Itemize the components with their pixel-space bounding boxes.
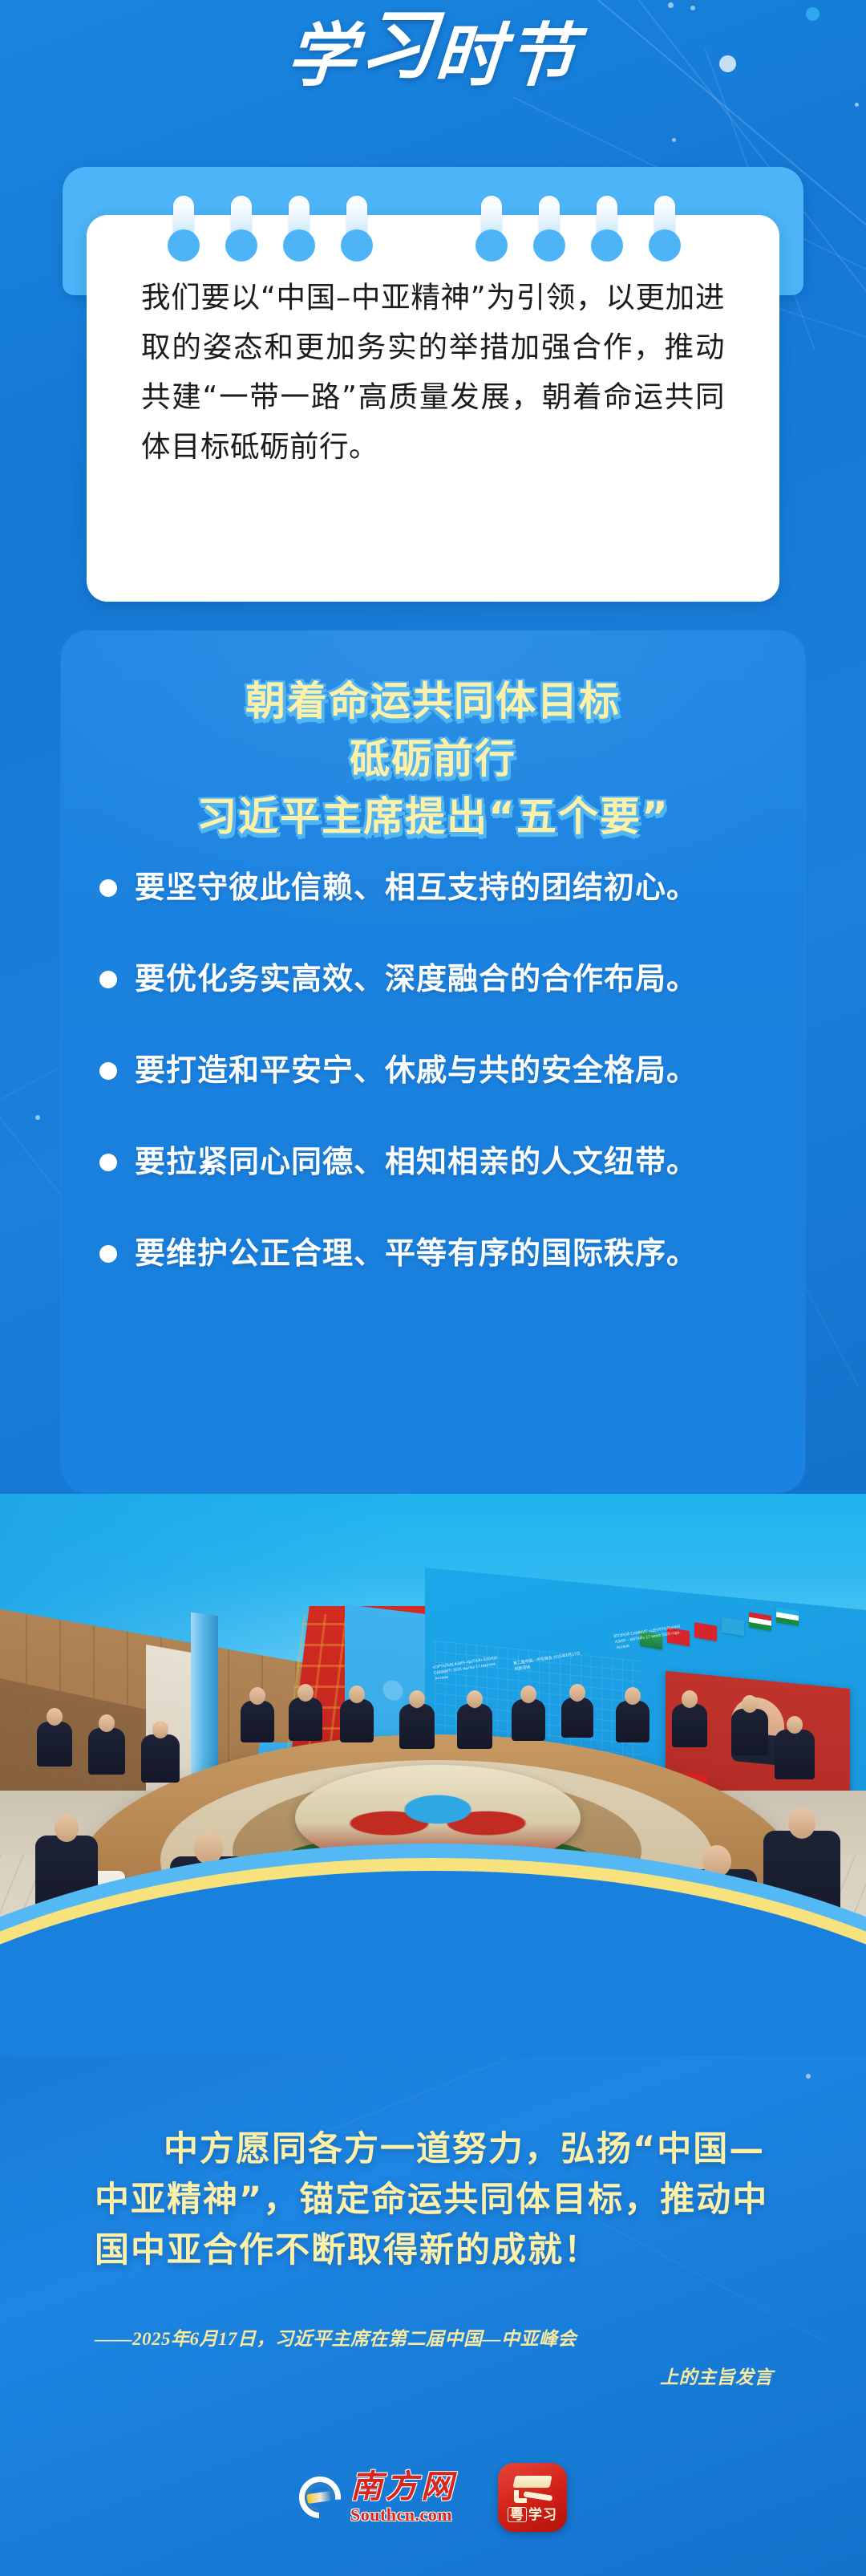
summit-photo: «ОРТАЛЫҚ АЗИЯ–ҚЫТАЙ» ЕКІНШІ САММИТІ 2025… <box>0 1494 866 2055</box>
headline-line-3: 习近平主席提出“五个要” <box>61 788 805 846</box>
attribution-line-1: ——2025年6月17日，习近平主席在第二届中国—中亚峰会 <box>95 2320 773 2359</box>
yue-char-rest: 学习 <box>528 2507 557 2522</box>
delegate-figure <box>512 1699 545 1741</box>
quote-text: 我们要以“中国–中亚精神”为引领，以更加进取的姿态和更加务实的举措加强合作，推动… <box>141 273 725 472</box>
delegate-figure <box>340 1699 374 1742</box>
yue-char-boxed: 粤 <box>508 2507 527 2522</box>
poster-root: 学习时节 我们要以“中国–中亚精神”为引领，以更加进取的姿态和更加务实的举措加强… <box>0 0 866 2576</box>
yuexuexi-app-icon[interactable]: 粤学习 <box>498 2463 567 2532</box>
brand-title: 学习时节 <box>285 14 582 94</box>
delegate-figure <box>141 1734 180 1783</box>
brand-title-part2: 时节 <box>431 18 581 95</box>
bullet-dot-icon <box>99 1062 117 1080</box>
delegate-head <box>788 1808 815 1839</box>
delegate-figure <box>561 1698 593 1738</box>
bullet-text: 要拉紧同心同德、相知相亲的人文纽带。 <box>135 1144 698 1181</box>
bullet-dot-icon <box>99 879 117 897</box>
content-panel: 朝着命运共同体目标 砥砺前行 习近平主席提出“五个要” 要坚守彼此信赖、相互支持… <box>61 631 805 1493</box>
delegate-head <box>702 1845 731 1877</box>
yue-glyph-icon <box>511 2473 554 2505</box>
delegate-head <box>569 1684 585 1702</box>
ring-icon <box>346 196 367 255</box>
delegate-figure <box>672 1704 707 1747</box>
delegate-head <box>625 1687 641 1705</box>
bottom-quote: 中方愿同各方一道努力，弘扬“中国—中亚精神”，锚定命运共同体目标，推动中国中亚合… <box>95 2124 773 2276</box>
delegate-head <box>152 1721 168 1738</box>
ring-icon <box>654 196 675 255</box>
southcn-mark-icon <box>299 2477 341 2518</box>
attribution: ——2025年6月17日，习近平主席在第二届中国—中亚峰会 上的主旨发言 <box>95 2320 773 2397</box>
ring-icon <box>481 196 502 255</box>
list-item: 要拉紧同心同德、相知相亲的人文纽带。 <box>61 1134 805 1191</box>
list-item: 要优化务实高效、深度融合的合作布局。 <box>61 951 805 1008</box>
photo-scene: «ОРТАЛЫҚ АЗИЯ–ҚЫТАЙ» ЕКІНШІ САММИТІ 2025… <box>0 1494 866 2055</box>
bullet-dot-icon <box>99 1245 117 1263</box>
southcn-name-en: Southcn.com <box>350 2505 452 2525</box>
logo-wheat-icon <box>306 2491 331 2504</box>
flower-arrangement <box>295 1765 581 1871</box>
southcn-name-cn: 南方网 <box>350 2470 456 2504</box>
delegate-head <box>194 1832 223 1864</box>
delegate-figure <box>37 1722 72 1767</box>
ring-icon <box>597 196 617 255</box>
delegate-head <box>787 1716 803 1734</box>
delegate-figure <box>35 1836 98 1919</box>
quote-card: 我们要以“中国–中亚精神”为引领，以更加进取的姿态和更加务实的举措加强合作，推动… <box>87 215 779 602</box>
bullet-text: 要优化务实高效、深度融合的合作布局。 <box>135 961 698 998</box>
yue-bar <box>512 2476 552 2488</box>
delegate-figure <box>88 1728 125 1775</box>
ring-icon <box>289 196 310 255</box>
brand-title-cursive-xi: 习 <box>357 2 439 90</box>
attribution-line-2: 上的主旨发言 <box>95 2359 773 2397</box>
delegate-figure <box>457 1704 492 1749</box>
delegate-head <box>55 1815 79 1842</box>
list-item: 要坚守彼此信赖、相互支持的团结初心。 <box>61 860 805 916</box>
bullet-dot-icon <box>99 1154 117 1171</box>
bullet-text: 要打造和平安宁、休戚与共的安全格局。 <box>135 1053 698 1089</box>
bullet-list: 要坚守彼此信赖、相互支持的团结初心。 要优化务实高效、深度融合的合作布局。 要打… <box>61 860 805 1317</box>
bullet-text: 要维护公正合理、平等有序的国际秩序。 <box>135 1235 698 1272</box>
delegate-head <box>742 1695 758 1713</box>
delegate-figure <box>775 1730 815 1779</box>
flag-tajikistan <box>749 1612 771 1631</box>
yuexuexi-label: 粤学习 <box>498 2503 567 2523</box>
yue-tail <box>524 2491 553 2501</box>
delegate-head <box>409 1690 425 1708</box>
ring-icon <box>173 196 194 255</box>
delegate-figure <box>616 1701 649 1742</box>
header: 学习时节 <box>0 0 866 160</box>
ring-icon <box>539 196 560 255</box>
delegate-figure <box>731 1709 768 1755</box>
ring-icon <box>231 196 252 255</box>
delegate-head <box>249 1687 265 1705</box>
headline-line-2: 砥砺前行 <box>61 730 805 788</box>
southcn-logo[interactable]: 南方网 Southcn.com <box>299 2470 456 2525</box>
delegate-head <box>99 1714 115 1732</box>
flag-china <box>694 1622 717 1641</box>
bullet-text: 要坚守彼此信赖、相互支持的团结初心。 <box>135 870 698 907</box>
delegate-figure <box>399 1704 435 1749</box>
list-item: 要打造和平安宁、休戚与共的安全格局。 <box>61 1043 805 1099</box>
delegate-head <box>467 1690 483 1708</box>
delegate-head <box>297 1684 314 1702</box>
delegate-figure <box>241 1701 274 1742</box>
delegate-head <box>349 1686 365 1703</box>
footer: 南方网 Southcn.com 粤学习 <box>0 2453 866 2542</box>
list-item: 要维护公正合理、平等有序的国际秩序。 <box>61 1226 805 1282</box>
flag-kazakhstan <box>722 1617 744 1637</box>
brand-title-part1: 学 <box>284 18 362 95</box>
delegate-head <box>520 1686 536 1703</box>
delegate-head <box>682 1690 698 1708</box>
bullet-dot-icon <box>99 971 117 988</box>
panel-headline: 朝着命运共同体目标 砥砺前行 习近平主席提出“五个要” <box>61 672 805 846</box>
delegate-head <box>47 1708 63 1726</box>
headline-line-1: 朝着命运共同体目标 <box>61 672 805 730</box>
flag-uzbekistan <box>776 1607 799 1626</box>
southcn-text: 南方网 Southcn.com <box>350 2470 456 2525</box>
page-title: 学习时节 <box>0 14 866 127</box>
delegate-figure <box>289 1698 322 1741</box>
